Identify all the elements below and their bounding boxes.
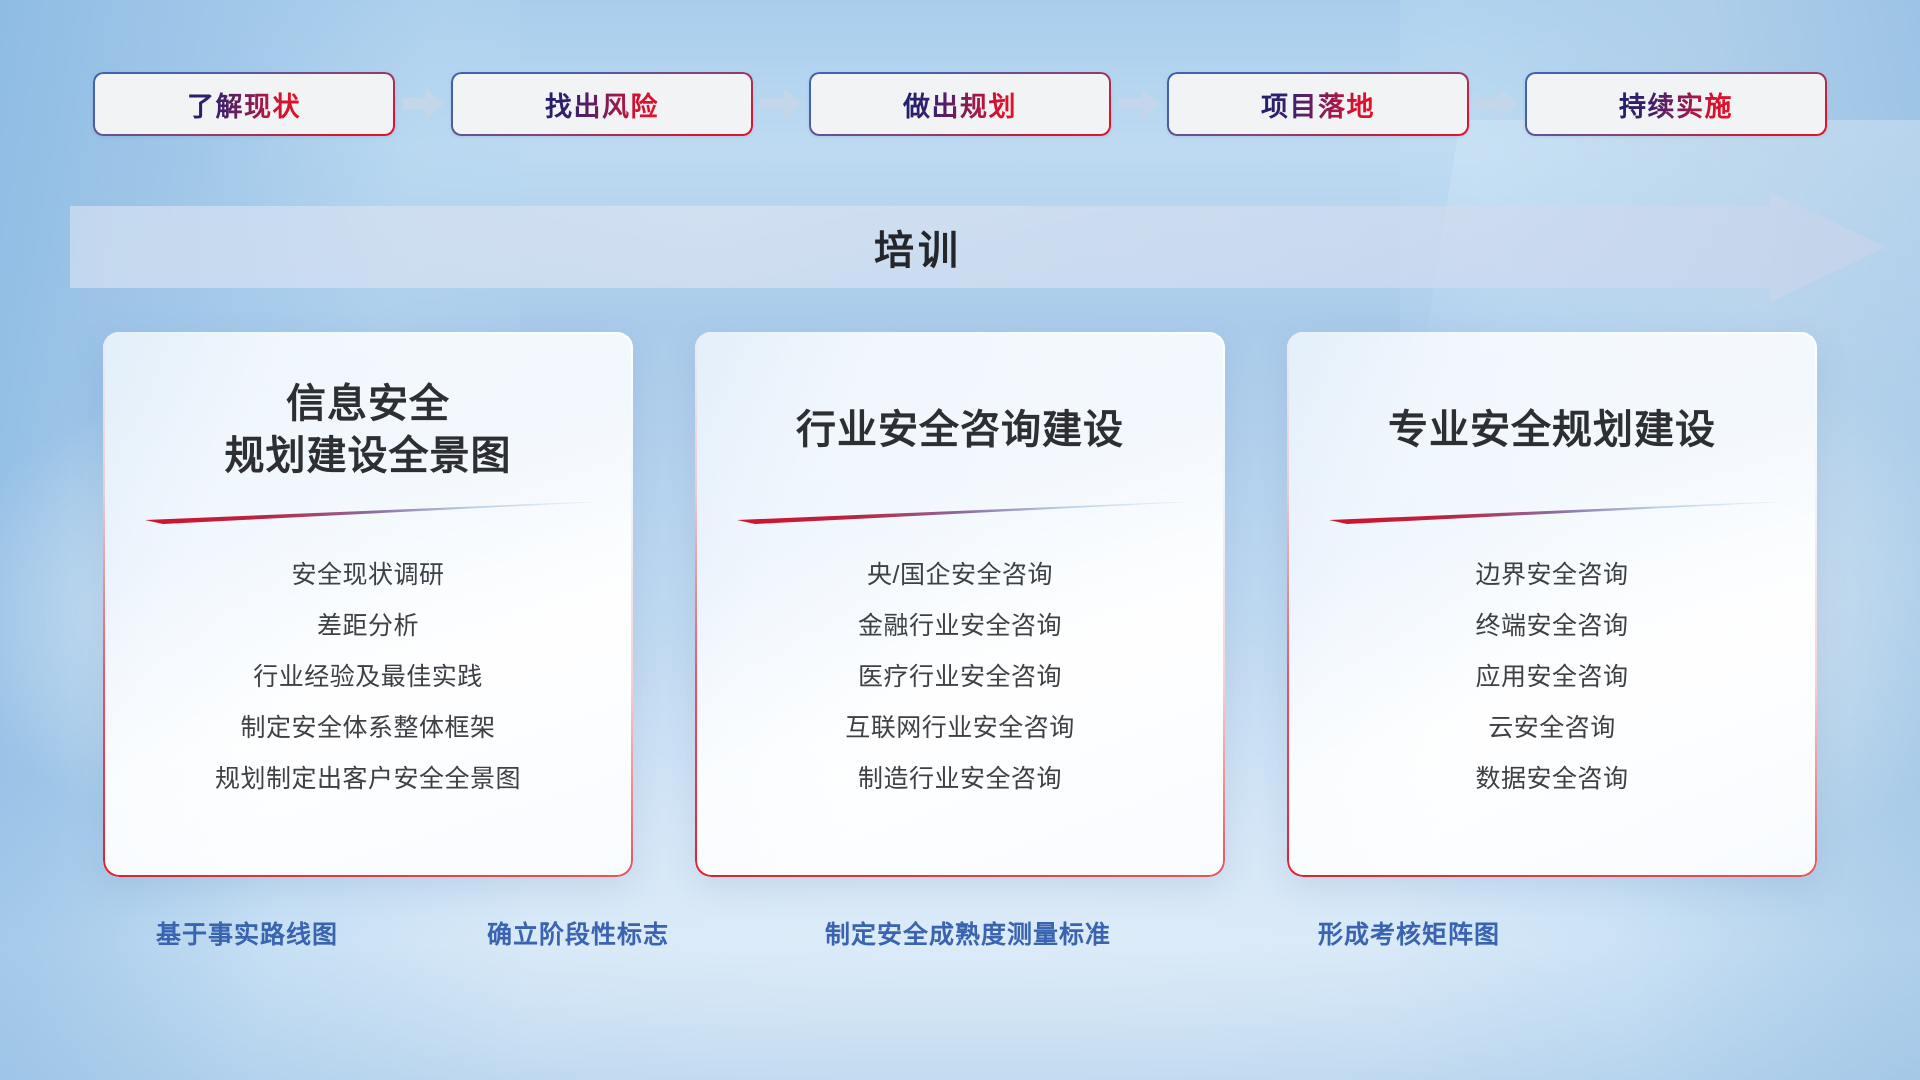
list-item: 安全现状调研 — [141, 550, 595, 601]
list-item: 应用安全咨询 — [1325, 652, 1779, 703]
card-list: 安全现状调研 差距分析 行业经验及最佳实践 制定安全体系整体框架 规划制定出客户… — [141, 550, 595, 805]
gradient-rule-icon — [737, 502, 1191, 524]
list-item: 互联网行业安全咨询 — [733, 703, 1187, 754]
step-label-1: 了解现状 — [187, 85, 301, 124]
step-pill-4[interactable]: 项目落地 — [1167, 72, 1469, 136]
list-item: 数据安全咨询 — [1325, 754, 1779, 805]
step-pill-1[interactable]: 了解现状 — [93, 72, 395, 136]
card-title: 信息安全 规划建设全景图 — [141, 376, 595, 484]
card-divider — [1329, 502, 1775, 528]
list-item: 医疗行业安全咨询 — [733, 652, 1187, 703]
list-item: 规划制定出客户安全全景图 — [141, 754, 595, 805]
list-item: 央/国企安全咨询 — [733, 550, 1187, 601]
list-item: 制定安全体系整体框架 — [141, 703, 595, 754]
slide-stage: 了解现状 找出风险 做出规划 项目落地 — [0, 0, 1920, 1080]
caption-row: 基于事实路线图 确立阶段性标志 制定安全成熟度测量标准 形成考核矩阵图 — [0, 915, 1920, 965]
list-item: 差距分析 — [141, 601, 595, 652]
list-item: 行业经验及最佳实践 — [141, 652, 595, 703]
gradient-rule-icon — [145, 502, 599, 524]
card-divider — [145, 502, 591, 528]
caption-2: 确立阶段性标志 — [487, 915, 669, 951]
list-item: 终端安全咨询 — [1325, 601, 1779, 652]
training-band: 培训 — [70, 192, 1886, 302]
gradient-rule-icon — [1329, 502, 1783, 524]
list-item: 云安全咨询 — [1325, 703, 1779, 754]
step-label-5: 持续实施 — [1619, 85, 1733, 124]
step-label-2: 找出风险 — [545, 85, 659, 124]
card-title: 行业安全咨询建设 — [733, 376, 1187, 484]
list-item: 金融行业安全咨询 — [733, 601, 1187, 652]
card-industry-security-consulting[interactable]: 行业安全咨询建设 — [695, 332, 1225, 877]
card-list: 央/国企安全咨询 金融行业安全咨询 医疗行业安全咨询 互联网行业安全咨询 制造行… — [733, 550, 1187, 805]
caption-4: 形成考核矩阵图 — [1318, 915, 1500, 951]
arrow-right-icon — [1111, 72, 1167, 136]
step-label-3: 做出规划 — [903, 85, 1017, 124]
arrow-right-icon — [1469, 72, 1525, 136]
training-label: 培训 — [70, 192, 1766, 302]
caption-3: 制定安全成熟度测量标准 — [825, 915, 1111, 951]
process-step-row: 了解现状 找出风险 做出规划 项目落地 — [0, 70, 1920, 138]
list-item: 制造行业安全咨询 — [733, 754, 1187, 805]
card-professional-security-planning[interactable]: 专业安全规划建设 — [1287, 332, 1817, 877]
card-list: 边界安全咨询 终端安全咨询 应用安全咨询 云安全咨询 数据安全咨询 — [1325, 550, 1779, 805]
card-divider — [737, 502, 1183, 528]
card-title: 专业安全规划建设 — [1325, 376, 1779, 484]
step-pill-2[interactable]: 找出风险 — [451, 72, 753, 136]
caption-1: 基于事实路线图 — [156, 915, 338, 951]
step-pill-3[interactable]: 做出规划 — [809, 72, 1111, 136]
step-pill-5[interactable]: 持续实施 — [1525, 72, 1827, 136]
list-item: 边界安全咨询 — [1325, 550, 1779, 601]
arrow-right-icon — [753, 72, 809, 136]
card-info-security-panorama[interactable]: 信息安全 规划建设全景图 — [103, 332, 633, 877]
arrow-right-icon — [395, 72, 451, 136]
card-row: 信息安全 规划建设全景图 — [0, 332, 1920, 892]
step-label-4: 项目落地 — [1261, 85, 1375, 124]
